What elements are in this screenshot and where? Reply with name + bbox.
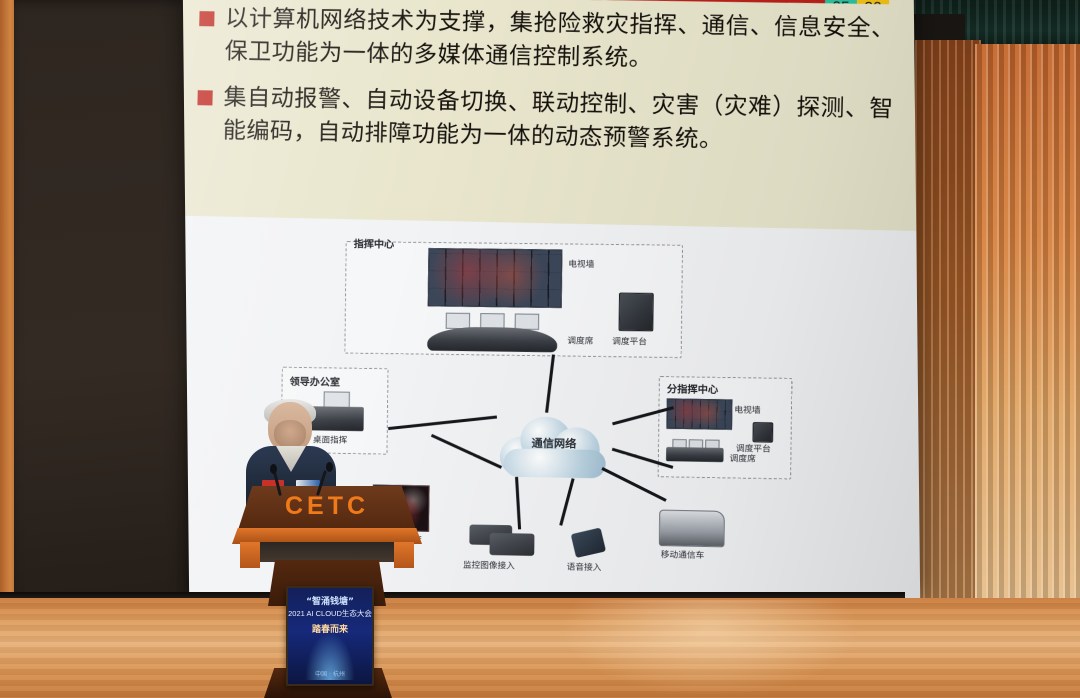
label-tv-wall-main: 电视墙: [568, 258, 594, 270]
auditorium-scene: 应急装备的分类概况 25 32 以计算机网络技术为支撑，集抢险救灾指挥、通信、信…: [0, 0, 1080, 698]
podium-shelf: [246, 542, 408, 562]
podium-side-left: [240, 542, 260, 568]
label-dispatch-desk-main: 调度席: [567, 334, 593, 346]
dispatch-platform-main: [619, 293, 654, 332]
cetc-logo: CETC: [238, 492, 416, 521]
dispatch-platform-branch: [752, 422, 773, 443]
left-dark-backdrop: [14, 0, 200, 610]
cloud-label: 通信网络: [494, 434, 614, 452]
banner-event-name: 2021 AI CLOUD生态大会: [288, 608, 372, 619]
banner-location: 中国 · 杭州: [288, 669, 372, 678]
label-dispatch-desk-branch: 调度席: [730, 452, 756, 465]
event-banner-sign: “智涌钱塘” 2021 AI CLOUD生态大会 踏春而来 中国 · 杭州: [286, 586, 374, 686]
link-bolt: [545, 354, 555, 412]
bullet-marker-icon: [197, 91, 212, 106]
slide-bullet-list: 以计算机网络技术为支撑，集抢险救灾指挥、通信、信息安全、保卫功能为一体的多媒体通…: [196, 2, 912, 174]
bullet-text: 集自动报警、自动设备切换、联动控制、灾害（灾难）探测、智能编码，自动排障功能为一…: [222, 82, 910, 160]
podium-side-right: [394, 542, 414, 568]
banner-slogan: “智涌钱塘”: [288, 594, 372, 607]
microphone-head: [270, 464, 277, 474]
label-tv-wall-branch: 电视墙: [734, 403, 760, 416]
zone-label-command-center: 指挥中心: [354, 235, 395, 251]
stage-curtain-outer: [975, 44, 1080, 609]
link-bolt: [515, 477, 521, 530]
label-dispatch-platform-main: 调度平台: [612, 335, 647, 348]
link-bolt: [559, 478, 574, 526]
stage-curtain-inner: [915, 40, 981, 610]
dispatch-desk-branch: [666, 447, 724, 462]
stage-floor: [0, 598, 1080, 698]
link-bolt: [388, 416, 497, 431]
zone-label-leader-office: 领导办公室: [290, 373, 340, 389]
microphone-head: [326, 462, 333, 472]
bullet-text: 以计算机网络技术为支撑，集抢险救灾指挥、通信、信息安全、保卫功能为一体的多媒体通…: [224, 3, 912, 80]
bullet-item: 集自动报警、自动设备切换、联动控制、灾害（灾难）探测、智能编码，自动排障功能为一…: [196, 82, 910, 161]
bullet-marker-icon: [199, 11, 214, 26]
label-video-access: 监控图像接入: [463, 559, 515, 572]
link-bolt: [431, 434, 502, 469]
speaker-face: [274, 420, 306, 448]
label-mobile-comm-vehicle: 移动通信车: [661, 548, 705, 561]
voice-terminal-icon: [571, 528, 606, 558]
zone-label-branch-command-center: 分指挥中心: [667, 380, 718, 396]
bullet-item: 以计算机网络技术为支撑，集抢险救灾指挥、通信、信息安全、保卫功能为一体的多媒体通…: [198, 2, 912, 79]
label-voice-access: 语音接入: [567, 561, 602, 574]
tv-wall-main: [428, 248, 563, 308]
surveillance-camera-icon: [489, 533, 534, 556]
banner-subtitle: 踏春而来: [288, 622, 372, 635]
tv-wall-branch: [666, 398, 732, 429]
mobile-comm-vehicle-icon: [659, 510, 725, 548]
floor-reflection: [560, 600, 860, 696]
